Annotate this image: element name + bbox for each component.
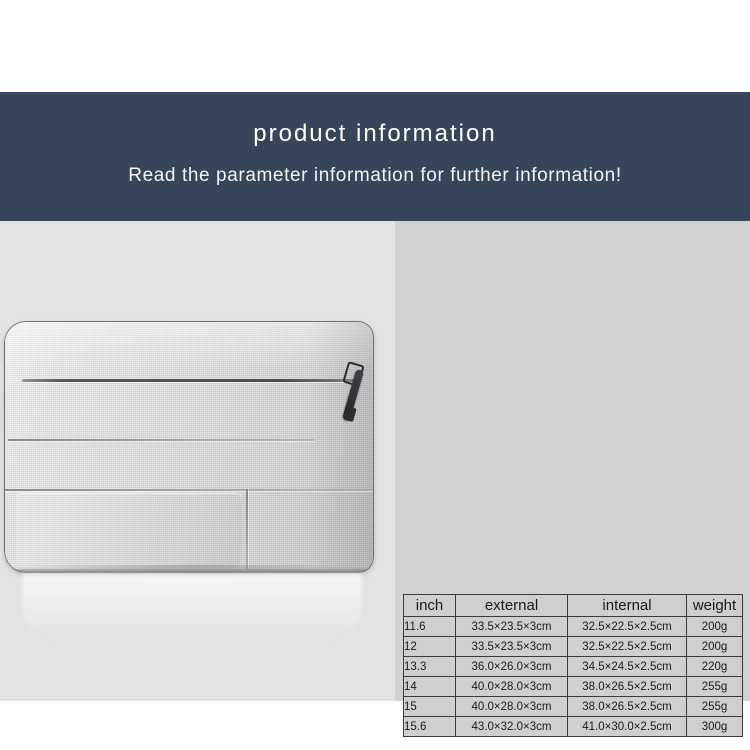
cell-external: 36.0×26.0×3cm (456, 657, 568, 677)
product-photo (0, 221, 395, 701)
column-header-internal: internal (568, 595, 687, 617)
cell-inch: 15 (404, 697, 456, 717)
cell-weight: 200g (687, 617, 743, 637)
cell-external: 33.5×23.5×3cm (456, 637, 568, 657)
main-zipper-seam (22, 379, 356, 382)
content-area: inch external internal weight 11.6 33.5×… (0, 221, 750, 701)
cell-internal: 38.0×26.5×2.5cm (568, 677, 687, 697)
cell-inch: 15.6 (404, 717, 456, 737)
sleeve-side-shading (310, 321, 374, 573)
specifications-table: inch external internal weight 11.6 33.5×… (403, 594, 743, 737)
top-pocket-seam (8, 439, 314, 441)
header-banner: product information Read the parameter i… (0, 92, 750, 221)
cell-external: 40.0×28.0×3cm (456, 677, 568, 697)
middle-pocket-seam (4, 489, 374, 491)
sleeve-top-highlight (4, 321, 374, 371)
page-title: product information (0, 120, 750, 148)
cell-inch: 13.3 (404, 657, 456, 677)
cell-internal: 34.5×24.5×2.5cm (568, 657, 687, 677)
table-row: 15.6 43.0×32.0×3cm 41.0×30.0×2.5cm 300g (404, 717, 743, 737)
product-reflection (22, 573, 362, 643)
cell-external: 40.0×28.0×3cm (456, 697, 568, 717)
cell-weight: 200g (687, 637, 743, 657)
table-row: 11.6 33.5×23.5×3cm 32.5×22.5×2.5cm 200g (404, 617, 743, 637)
product-information-page: product information Read the parameter i… (0, 0, 750, 750)
cell-internal: 41.0×30.0×2.5cm (568, 717, 687, 737)
column-header-inch: inch (404, 595, 456, 617)
table-row: 15 40.0×28.0×3cm 38.0×26.5×2.5cm 255g (404, 697, 743, 717)
table-header-row: inch external internal weight (404, 595, 743, 617)
front-pocket-panel (16, 493, 242, 569)
cell-internal: 38.0×26.5×2.5cm (568, 697, 687, 717)
page-subtitle: Read the parameter information for furth… (0, 164, 750, 188)
bottom-piping (12, 568, 370, 573)
cell-inch: 12 (404, 637, 456, 657)
cell-weight: 255g (687, 677, 743, 697)
cell-inch: 11.6 (404, 617, 456, 637)
cell-external: 33.5×23.5×3cm (456, 617, 568, 637)
cell-weight: 255g (687, 697, 743, 717)
table-row: 13.3 36.0×26.0×3cm 34.5×24.5×2.5cm 220g (404, 657, 743, 677)
spec-table-container: inch external internal weight 11.6 33.5×… (403, 594, 742, 737)
column-header-external: external (456, 595, 568, 617)
table-row: 12 33.5×23.5×3cm 32.5×22.5×2.5cm 200g (404, 637, 743, 657)
cell-weight: 220g (687, 657, 743, 677)
cell-weight: 300g (687, 717, 743, 737)
column-header-weight: weight (687, 595, 743, 617)
cell-external: 43.0×32.0×3cm (456, 717, 568, 737)
cell-internal: 32.5×22.5×2.5cm (568, 617, 687, 637)
cell-internal: 32.5×22.5×2.5cm (568, 637, 687, 657)
product-image-panel (0, 221, 395, 701)
laptop-sleeve-illustration (4, 321, 374, 573)
side-pocket-divider-seam (246, 489, 248, 569)
cell-inch: 14 (404, 677, 456, 697)
table-row: 14 40.0×28.0×3cm 38.0×26.5×2.5cm 255g (404, 677, 743, 697)
